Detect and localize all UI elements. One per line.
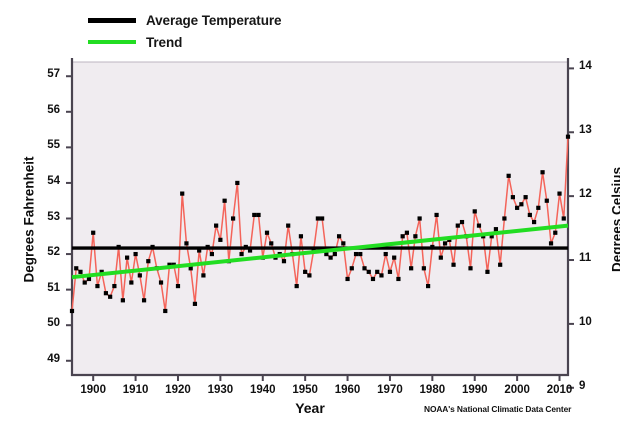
y-right-tick-13: 13 bbox=[579, 124, 603, 136]
y-left-tick-52: 52 bbox=[36, 246, 60, 258]
y-right-tick-14: 14 bbox=[579, 60, 603, 72]
x-tick-2000: 2000 bbox=[494, 384, 540, 396]
y-right-tick-12: 12 bbox=[579, 188, 603, 200]
y-right-tick-11: 11 bbox=[579, 252, 603, 264]
x-tick-1930: 1930 bbox=[197, 384, 243, 396]
y-left-tick-56: 56 bbox=[36, 104, 60, 116]
y-left-tick-54: 54 bbox=[36, 175, 60, 187]
x-tick-1960: 1960 bbox=[325, 384, 371, 396]
chart-container: Average Temperature Trend Degrees Fahren… bbox=[0, 0, 620, 434]
x-tick-1920: 1920 bbox=[155, 384, 201, 396]
y-left-tick-50: 50 bbox=[36, 317, 60, 329]
x-tick-1940: 1940 bbox=[240, 384, 286, 396]
y-left-tick-53: 53 bbox=[36, 211, 60, 223]
x-tick-1910: 1910 bbox=[113, 384, 159, 396]
x-tick-1990: 1990 bbox=[452, 384, 498, 396]
x-tick-2010: 2010 bbox=[537, 384, 583, 396]
x-tick-1950: 1950 bbox=[282, 384, 328, 396]
y-left-tick-57: 57 bbox=[36, 68, 60, 80]
y-right-tick-10: 10 bbox=[579, 316, 603, 328]
plot-area bbox=[0, 0, 620, 434]
y-right-tick-9: 9 bbox=[579, 380, 603, 392]
y-left-tick-51: 51 bbox=[36, 282, 60, 294]
x-tick-1980: 1980 bbox=[409, 384, 455, 396]
y-left-tick-55: 55 bbox=[36, 139, 60, 151]
x-tick-1970: 1970 bbox=[367, 384, 413, 396]
y-left-tick-49: 49 bbox=[36, 353, 60, 365]
x-tick-1900: 1900 bbox=[70, 384, 116, 396]
